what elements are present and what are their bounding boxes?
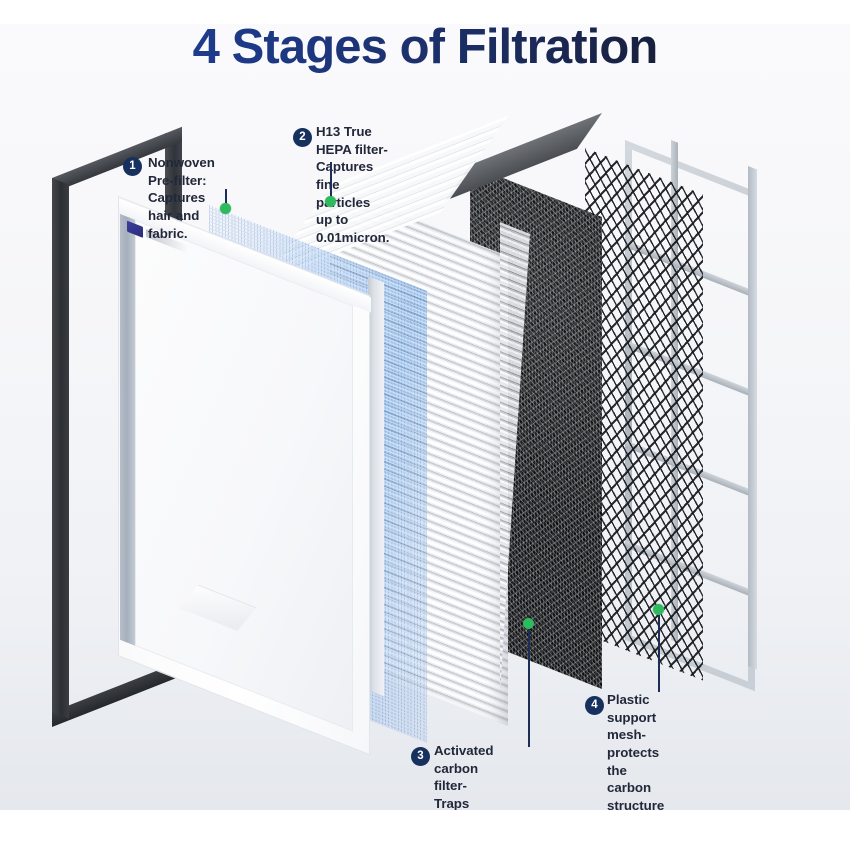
pre-filter-window [135,220,353,732]
support-grid-side-edge [748,166,757,670]
callout-3-badge[interactable]: 3 [411,747,430,766]
callout-2-badge[interactable]: 2 [293,128,312,147]
plastic-mesh-face [585,148,703,680]
callout-2-target-dot [325,196,336,207]
pre-filter-frame [118,196,370,755]
pre-filter-skew-group [118,196,370,795]
callout-1-badge[interactable]: 1 [123,157,142,176]
plastic-support-mesh-layer [585,148,703,688]
callout-3-leader-line [528,625,530,747]
pre-filter-layer [118,196,370,696]
pre-filter-side-edge [368,276,384,696]
background-bottom-margin [0,810,850,850]
callout-1-text: Nonwoven Pre-filter: Captures hair and f… [148,154,215,242]
pre-filter-left-rail [120,214,135,646]
page-title: 4 Stages of Filtration [0,22,850,74]
carbon-frame-rail-front [52,178,69,719]
callout-3-target-dot [523,618,534,629]
callout-2-text: H13 True HEPA filter-Captures fine parti… [316,123,389,247]
callout-4-badge[interactable]: 4 [585,696,604,715]
filtration-diagram: 4 Stages of Filtration [0,0,850,850]
callout-4-target-dot [653,604,664,615]
callout-1-target-dot [220,203,231,214]
callout-4-leader-line [658,612,660,692]
